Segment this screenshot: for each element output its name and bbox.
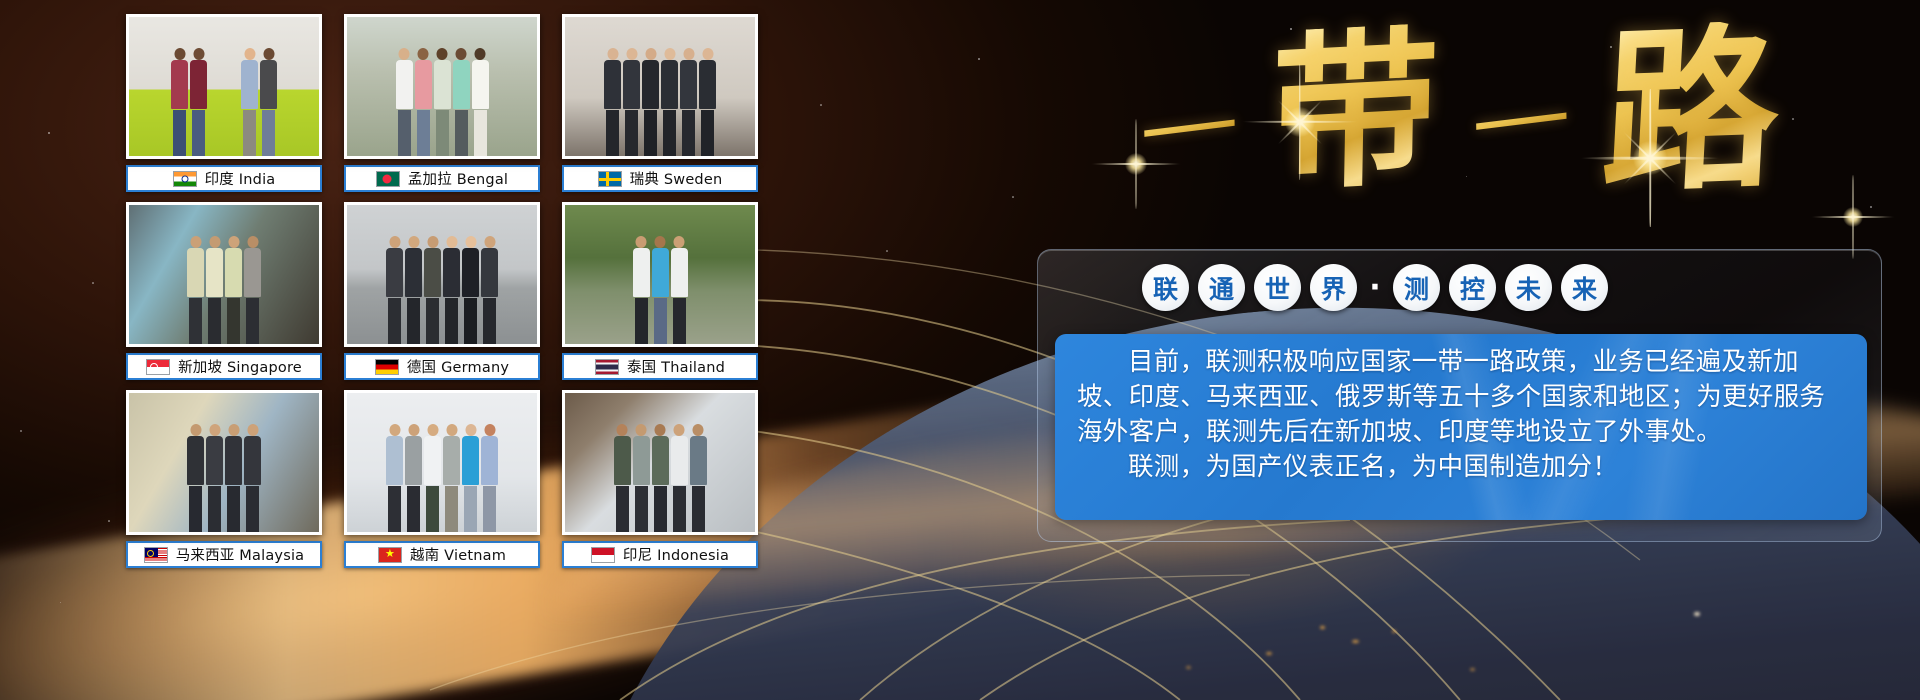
caption-thailand: 泰国 Thailand [562,353,758,380]
slogan-char-1: 联 [1142,264,1189,311]
photo-vietnam [344,390,540,535]
photo-card-indonesia[interactable]: 印尼 Indonesia [562,390,758,570]
photo-card-bengal[interactable]: 孟加拉 Bengal [344,14,540,194]
photo-indonesia [562,390,758,535]
photo-singapore [126,202,322,347]
photo-sweden [562,14,758,159]
slogan-char-6: 控 [1449,264,1496,311]
slogan-char-5: 测 [1393,264,1440,311]
photo-card-malaysia[interactable]: 马来西亚 Malaysia [126,390,322,570]
caption-label: 越南 Vietnam [410,544,506,565]
flag-bangladesh-icon [376,171,400,187]
slogan-char-3: 世 [1254,264,1301,311]
flag-germany-icon [375,359,399,375]
caption-germany: 德国 Germany [344,353,540,380]
caption-india: 印度 India [126,165,322,192]
slogan-char-7: 未 [1505,264,1552,311]
photo-card-singapore[interactable]: 新加坡 Singapore [126,202,322,382]
slogan-char-2: 通 [1198,264,1245,311]
title-char-2: 带 [1270,22,1441,199]
caption-label: 孟加拉 Bengal [408,168,508,189]
caption-label: 泰国 Thailand [627,356,725,377]
caption-bengal: 孟加拉 Bengal [344,165,540,192]
title-char-4: 路 [1598,20,1783,203]
caption-label: 印尼 Indonesia [623,544,729,565]
photo-card-india[interactable]: 印度 India [126,14,322,194]
title-char-3: 一 [1473,90,1569,158]
slogan-char-8: 来 [1561,264,1608,311]
caption-label: 马来西亚 Malaysia [176,544,305,565]
flag-sweden-icon [598,171,622,187]
caption-singapore: 新加坡 Singapore [126,353,322,380]
photo-grid: 印度 India 孟加拉 Bengal [126,14,758,570]
flag-vietnam-icon [378,547,402,563]
caption-label: 新加坡 Singapore [178,356,302,377]
flag-thailand-icon [595,359,619,375]
caption-label: 瑞典 Sweden [630,168,723,189]
photo-india [126,14,322,159]
caption-malaysia: 马来西亚 Malaysia [126,541,322,568]
slogan-row: 联 通 世 界 · 测 控 未 来 [1142,264,1608,311]
caption-sweden: 瑞典 Sweden [562,165,758,192]
flag-indonesia-icon [591,547,615,563]
banner-stage: 印度 India 孟加拉 Bengal [0,0,1920,700]
flag-india-icon [173,171,197,187]
flag-malaysia-icon [144,547,168,563]
description-paragraph-1: 目前，联测积极响应国家一带一路政策，业务已经遍及新加坡、印度、马来西亚、俄罗斯等… [1077,345,1843,450]
photo-malaysia [126,390,322,535]
title-char-1: 一 [1141,97,1237,165]
photo-bengal [344,14,540,159]
flag-singapore-icon [146,359,170,375]
photo-card-germany[interactable]: 德国 Germany [344,202,540,382]
caption-vietnam: 越南 Vietnam [344,541,540,568]
caption-label: 印度 India [205,168,276,189]
photo-thailand [562,202,758,347]
slogan-separator-dot: · [1366,279,1384,297]
photo-card-sweden[interactable]: 瑞典 Sweden [562,14,758,194]
caption-label: 德国 Germany [407,356,509,377]
description-paragraph-2: 联测，为国产仪表正名，为中国制造加分！ [1077,450,1843,485]
photo-germany [344,202,540,347]
photo-card-thailand[interactable]: 泰国 Thailand [562,202,758,382]
calligraphy-title: 一 带 一 路 [1030,6,1890,216]
description-box: 目前，联测积极响应国家一带一路政策，业务已经遍及新加坡、印度、马来西亚、俄罗斯等… [1055,334,1867,520]
slogan-char-4: 界 [1310,264,1357,311]
photo-card-vietnam[interactable]: 越南 Vietnam [344,390,540,570]
caption-indonesia: 印尼 Indonesia [562,541,758,568]
